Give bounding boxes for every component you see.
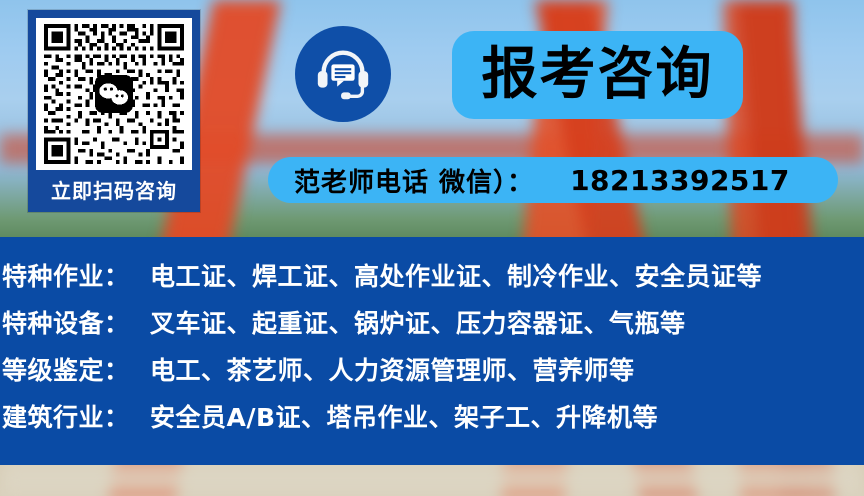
service-items: 叉车证、起重证、锅炉证、压力容器证、气瓶等 [150,304,686,340]
service-row: 等级鉴定： 电工、茶艺师、人力资源管理师、营养师等 [0,351,864,398]
qr-panel-label: 立即扫码咨询 [36,170,192,212]
qr-matrix-svg [42,24,186,164]
contact-pill[interactable]: 范老师电话 微信）： 18213392517 [268,157,838,203]
advertisement-banner: 立即扫码咨询 报考咨询 范老师电话 微信）： 18213392517 特种 [0,0,864,496]
service-row: 特种设备： 叉车证、起重证、锅炉证、压力容器证、气瓶等 [0,304,864,351]
service-items: 安全员A/B证、塔吊作业、架子工、升降机等 [150,398,658,434]
consult-title-pill: 报考咨询 [452,31,743,119]
qr-scan-panel[interactable]: 立即扫码咨询 [28,10,200,212]
service-list-block: 特种作业： 电工证、焊工证、高处作业证、制冷作业、安全员证等 特种设备： 叉车证… [0,237,864,465]
contact-phone-number[interactable]: 18213392517 [570,164,790,197]
headset-support-icon [312,43,374,105]
service-category: 建筑行业： [2,398,150,434]
service-category: 特种作业： [2,257,150,293]
service-category: 等级鉴定： [2,351,150,387]
qr-code-icon[interactable] [36,18,192,170]
service-items: 电工证、焊工证、高处作业证、制冷作业、安全员证等 [150,257,762,293]
service-items: 电工、茶艺师、人力资源管理师、营养师等 [150,351,635,387]
service-category: 特种设备： [2,304,150,340]
service-row: 建筑行业： 安全员A/B证、塔吊作业、架子工、升降机等 [0,398,864,445]
contact-label: 范老师电话 微信）： [294,162,534,199]
service-row: 特种作业： 电工证、焊工证、高处作业证、制冷作业、安全员证等 [0,257,864,304]
page-title: 报考咨询 [482,47,714,103]
headset-support-badge[interactable] [295,26,391,122]
